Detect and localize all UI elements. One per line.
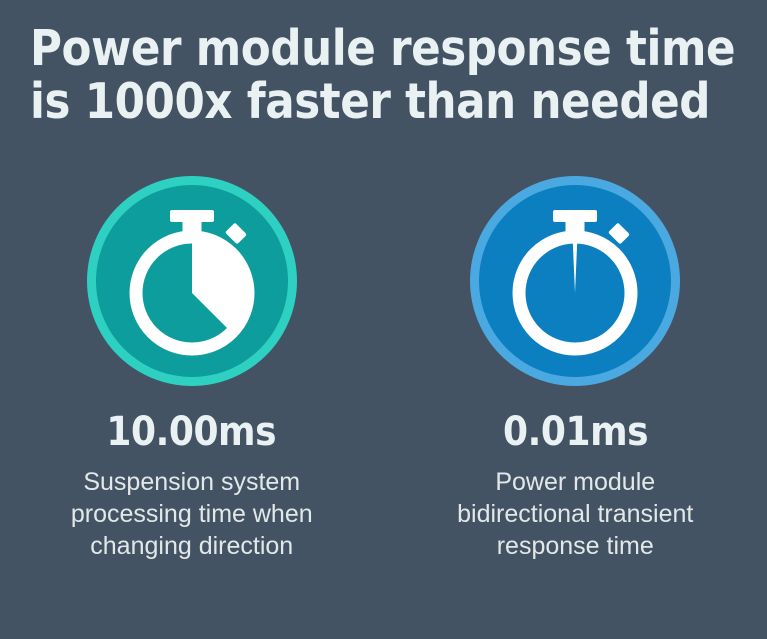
stopwatch-icon: [87, 176, 297, 386]
caption-line: bidirectional transient: [457, 498, 693, 530]
caption-line: Power module: [457, 466, 693, 498]
caption-suspension: Suspension system processing time when c…: [71, 466, 313, 562]
value-suspension: 10.00ms: [107, 410, 277, 454]
caption-line: Suspension system: [71, 466, 313, 498]
stopwatch-badge-power-module: [470, 176, 680, 386]
title-line-1: Power module response time: [30, 22, 680, 75]
panels-container: 10.00ms Suspension system processing tim…: [0, 176, 767, 562]
caption-line: changing direction: [71, 530, 313, 562]
panel-power-module: 0.01ms Power module bidirectional transi…: [384, 176, 767, 562]
value-power-module: 0.01ms: [503, 410, 648, 454]
page-title: Power module response time is 1000x fast…: [30, 22, 760, 128]
panel-suspension: 10.00ms Suspension system processing tim…: [0, 176, 384, 562]
caption-line: response time: [457, 530, 693, 562]
infographic-root: Power module response time is 1000x fast…: [0, 0, 767, 639]
stopwatch-icon: [470, 176, 680, 386]
caption-line: processing time when: [71, 498, 313, 530]
caption-power-module: Power module bidirectional transient res…: [457, 466, 693, 562]
title-line-2: is 1000x faster than needed: [30, 75, 680, 128]
stopwatch-badge-suspension: [87, 176, 297, 386]
